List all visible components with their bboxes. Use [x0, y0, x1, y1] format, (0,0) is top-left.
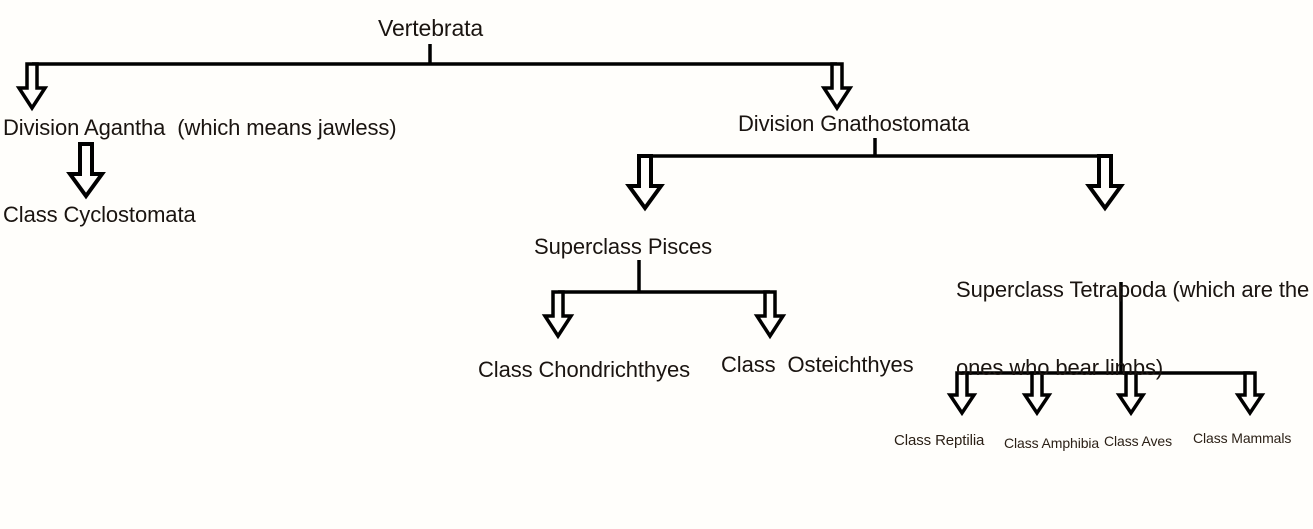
- node-label-class-chondrichthyes: Class Chondrichthyes: [478, 357, 690, 383]
- node-label-class-mammals: Class Mammals: [1193, 430, 1291, 447]
- connector-gnathostomata-to-superclasses: [629, 138, 1121, 208]
- node-label-division-agantha: Division Agantha (which means jawless): [3, 115, 397, 141]
- node-label-superclass-tetrapoda-line1: Superclass Tetrapoda (which are the: [956, 277, 1309, 303]
- node-label-class-osteichthyes: Class Osteichthyes: [721, 352, 914, 378]
- node-label-class-cyclostomata: Class Cyclostomata: [3, 202, 196, 228]
- connector-agantha-to-cyclostomata: [70, 144, 102, 196]
- node-label-superclass-tetrapoda-line2: ones who bear limbs): [956, 355, 1309, 381]
- node-label-superclass-pisces: Superclass Pisces: [534, 234, 712, 260]
- connector-pisces-to-classes: [545, 260, 783, 336]
- node-label-class-reptilia: Class Reptilia: [894, 432, 984, 450]
- node-label-vertebrata: Vertebrata: [378, 15, 483, 42]
- node-label-division-gnathostomata: Division Gnathostomata: [738, 111, 969, 137]
- connector-root-to-divisions: [19, 44, 850, 108]
- node-label-class-aves: Class Aves: [1104, 433, 1172, 450]
- vertebrata-classification-diagram: Vertebrata Division Agantha (which means…: [0, 0, 1313, 529]
- node-label-class-amphibia: Class Amphibia: [1004, 435, 1099, 452]
- node-label-superclass-tetrapoda: Superclass Tetrapoda (which are the ones…: [956, 225, 1309, 433]
